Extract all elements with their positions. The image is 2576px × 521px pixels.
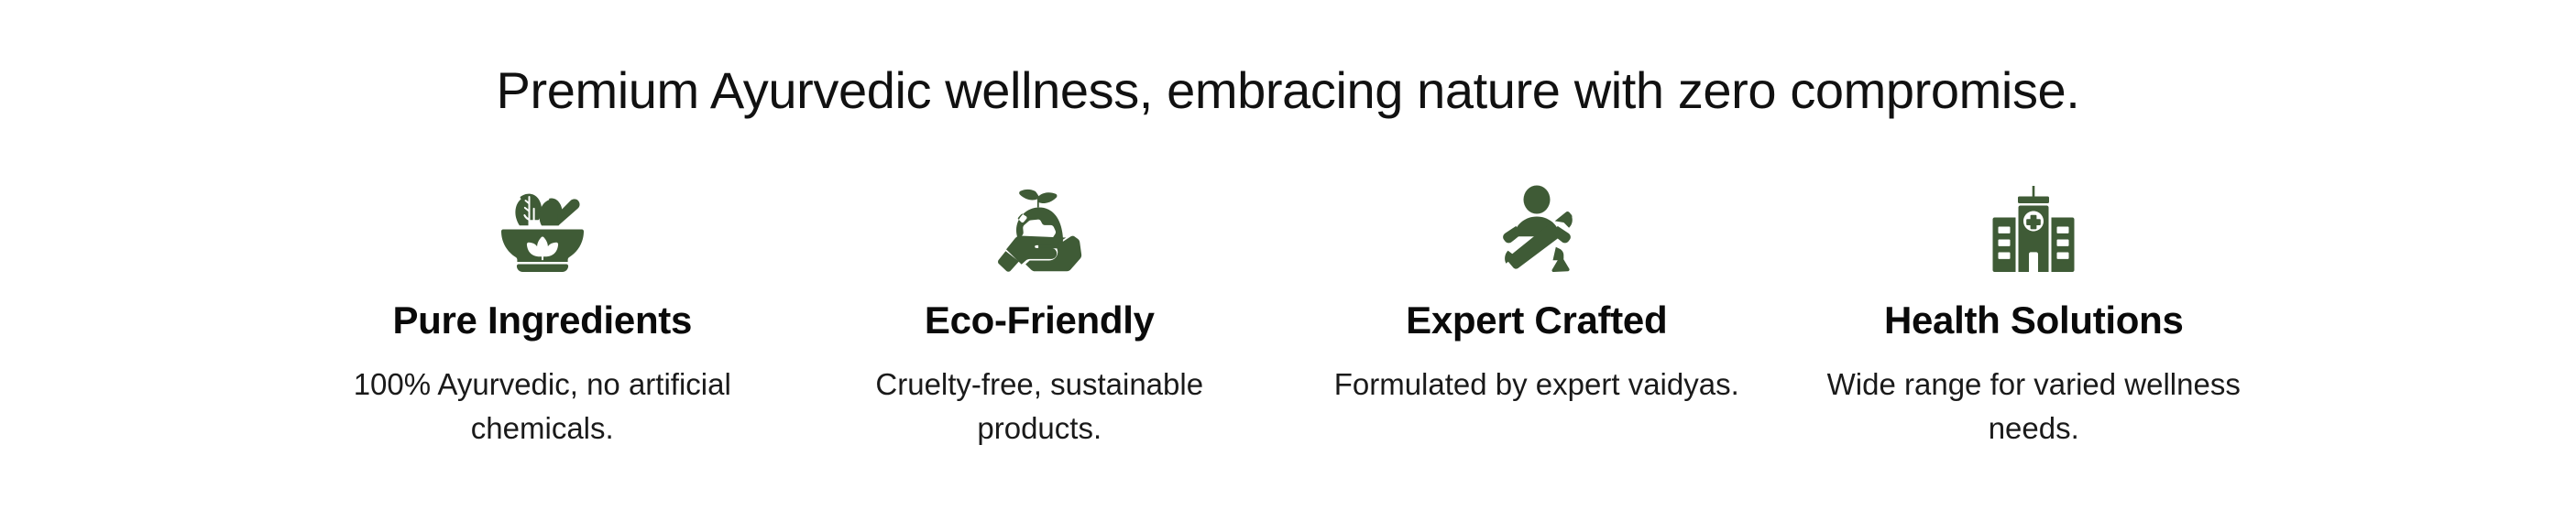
feature-card-pure-ingredients: Pure Ingredients 100% Ayurvedic, no arti… [294,179,792,450]
feature-card-eco-friendly: Eco-Friendly Cruelty-free, sustainable p… [791,179,1288,450]
hand-holding-earth-sprout-icon [989,179,1090,279]
features-grid: Pure Ingredients 100% Ayurvedic, no arti… [294,179,2283,450]
person-with-pencil-icon [1486,179,1587,279]
feature-title: Pure Ingredients [392,298,692,343]
feature-card-health-solutions: Health Solutions Wide range for varied w… [1785,179,2283,450]
feature-description: Formulated by expert vaidyas. [1334,363,1739,407]
feature-card-expert-crafted: Expert Crafted Formulated by expert vaid… [1288,179,1786,407]
feature-description: Wide range for varied wellness needs. [1825,363,2242,450]
hospital-building-cross-icon [1983,179,2084,279]
feature-description: 100% Ayurvedic, no artificial chemicals. [350,363,735,450]
features-section: Premium Ayurvedic wellness, embracing na… [0,0,2576,521]
section-headline: Premium Ayurvedic wellness, embracing na… [497,0,2080,120]
feature-title: Health Solutions [1884,298,2184,343]
feature-description: Cruelty-free, sustainable products. [813,363,1266,450]
feature-title: Expert Crafted [1406,298,1667,343]
mortar-and-pestle-herbs-icon [492,179,593,279]
feature-title: Eco-Friendly [925,298,1155,343]
